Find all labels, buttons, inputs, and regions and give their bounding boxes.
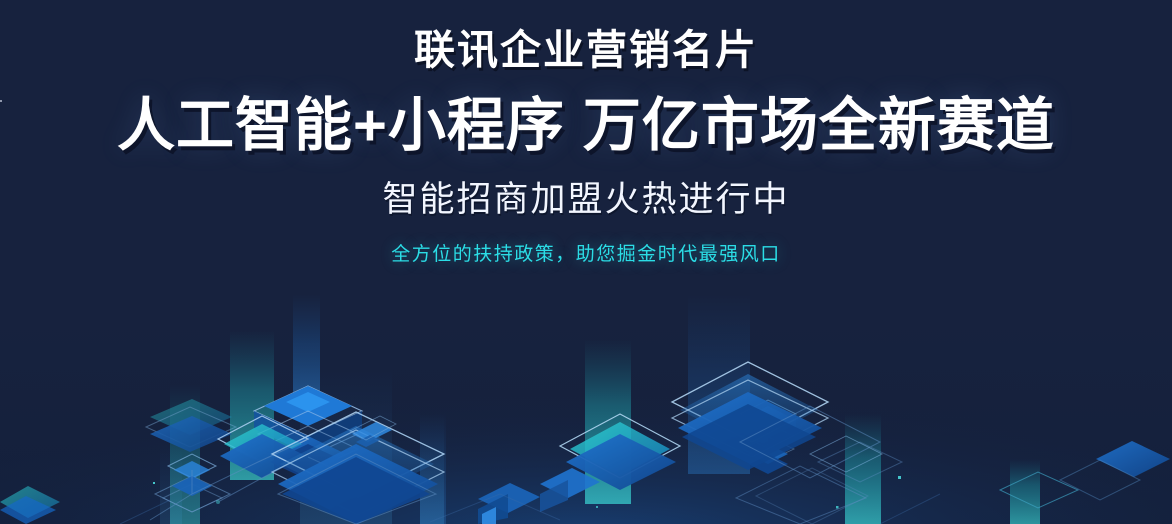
marketing-banner: 联讯企业营销名片 人工智能+小程序万亿市场全新赛道 智能招商加盟火热进行中 全方… xyxy=(0,0,1172,524)
headline-part-1: 人工智能+小程序 xyxy=(117,93,565,158)
tagline: 全方位的扶持政策，助您掘金时代最强风口 xyxy=(0,220,1172,267)
sub-headline: 智能招商加盟火热进行中 xyxy=(0,158,1172,220)
headline-part-2: 万亿市场全新赛道 xyxy=(583,93,1055,158)
main-headline: 人工智能+小程序万亿市场全新赛道 xyxy=(0,73,1172,158)
brand-title: 联讯企业营销名片 xyxy=(0,0,1172,73)
isometric-tech-illustration xyxy=(0,294,1172,524)
banner-text-stack: 联讯企业营销名片 人工智能+小程序万亿市场全新赛道 智能招商加盟火热进行中 全方… xyxy=(0,0,1172,267)
